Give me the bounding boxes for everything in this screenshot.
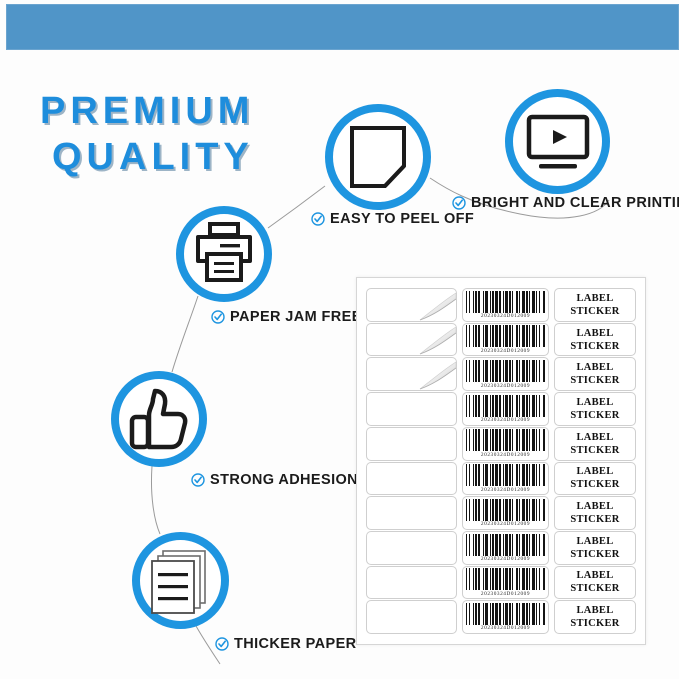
feature-label-paper-jam-free: PAPER JAM FREE [211,309,362,325]
feature-label-bright-and-clear-printing: BRIGHT AND CLEAR PRINTING [452,195,679,211]
check-badge-icon [211,310,225,324]
feature-label-text: STRONG ADHESION [210,472,358,488]
sticker-text: LABELSTICKER [570,535,619,561]
label-cell-blank[interactable] [366,531,457,565]
sticker-text: LABELSTICKER [570,500,619,526]
barcode-number: 20230324D012009 [481,521,530,527]
printer-icon [176,206,272,302]
sticker-text: LABELSTICKER [570,431,619,457]
label-cell-sticker[interactable]: LABELSTICKER [554,531,636,565]
label-cell-sticker[interactable]: LABELSTICKER [554,496,636,530]
sticker-text: LABELSTICKER [570,292,619,318]
label-cell-barcode[interactable]: 20230324D012009 [462,392,549,426]
barcode-number: 20230324D012009 [481,348,530,354]
sticker-text: LABELSTICKER [570,569,619,595]
label-cell-barcode[interactable]: 20230324D012009 [462,357,549,391]
check-badge-icon [191,473,205,487]
label-row: 20230324D012009LABELSTICKER [366,566,636,600]
barcode-number: 20230324D012009 [481,487,530,493]
feature-label-strong-adhesion: STRONG ADHESION [191,472,358,488]
page-title: PREMIUM QUALITY [40,88,340,180]
feature-label-text: PAPER JAM FREE [230,309,362,325]
label-cell-barcode[interactable]: 20230324D012009 [462,427,549,461]
peel-corner-icon [412,289,456,321]
feature-label-easy-to-peel-off: EASY TO PEEL OFF [311,211,474,227]
label-cell-barcode[interactable]: 20230324D012009 [462,531,549,565]
peel-corner-icon [412,323,456,355]
label-row: 20230324D012009LABELSTICKER [366,531,636,565]
label-row: 20230324D012009LABELSTICKER [366,323,636,357]
sticker-text: LABELSTICKER [570,465,619,491]
label-cell-barcode[interactable]: 20230324D012009 [462,288,549,322]
label-cell-blank[interactable] [366,288,457,322]
label-cell-blank[interactable] [366,427,457,461]
barcode-number: 20230324D012009 [481,556,530,562]
label-cell-blank[interactable] [366,496,457,530]
barcode-number: 20230324D012009 [481,452,530,458]
check-badge-icon [215,637,229,651]
label-row: 20230324D012009LABELSTICKER [366,357,636,391]
thumbs-up-icon [111,371,207,467]
label-cell-sticker[interactable]: LABELSTICKER [554,392,636,426]
feature-label-text: EASY TO PEEL OFF [330,211,474,227]
label-cell-blank[interactable] [366,566,457,600]
peel-label-icon [325,104,431,210]
label-cell-sticker[interactable]: LABELSTICKER [554,288,636,322]
feature-label-text: THICKER PAPER [234,636,357,652]
sticker-text: LABELSTICKER [570,327,619,353]
barcode-number: 20230324D012009 [481,625,530,631]
barcode-number: 20230324D012009 [481,383,530,389]
feature-label-text: BRIGHT AND CLEAR PRINTING [471,195,679,211]
label-cell-sticker[interactable]: LABELSTICKER [554,323,636,357]
label-cell-blank[interactable] [366,462,457,496]
label-cell-barcode[interactable]: 20230324D012009 [462,566,549,600]
label-sheet: 20230324D012009LABELSTICKER20230324D0120… [356,277,646,645]
label-row: 20230324D012009LABELSTICKER [366,496,636,530]
label-cell-barcode[interactable]: 20230324D012009 [462,600,549,634]
label-cell-blank[interactable] [366,600,457,634]
label-cell-barcode[interactable]: 20230324D012009 [462,323,549,357]
label-cell-blank[interactable] [366,357,457,391]
sticker-text: LABELSTICKER [570,604,619,630]
label-cell-barcode[interactable]: 20230324D012009 [462,462,549,496]
label-cell-sticker[interactable]: LABELSTICKER [554,427,636,461]
top-banner [6,4,679,50]
label-row: 20230324D012009LABELSTICKER [366,462,636,496]
sticker-text: LABELSTICKER [570,361,619,387]
barcode-number: 20230324D012009 [481,591,530,597]
label-cell-blank[interactable] [366,392,457,426]
monitor-play-icon [505,89,610,194]
label-cell-barcode[interactable]: 20230324D012009 [462,496,549,530]
label-cell-sticker[interactable]: LABELSTICKER [554,357,636,391]
infographic-canvas: PREMIUM QUALITY EASY TO PEEL OFF [0,0,679,679]
page-title-line-1: PREMIUM [40,90,254,132]
label-row: 20230324D012009LABELSTICKER [366,288,636,322]
paper-stack-icon [132,532,229,629]
check-badge-icon [311,212,325,226]
barcode-number: 20230324D012009 [481,417,530,423]
label-row: 20230324D012009LABELSTICKER [366,600,636,634]
label-cell-sticker[interactable]: LABELSTICKER [554,600,636,634]
page-title-line-2: QUALITY [52,134,340,180]
label-row: 20230324D012009LABELSTICKER [366,392,636,426]
barcode-number: 20230324D012009 [481,313,530,319]
feature-label-thicker-paper: THICKER PAPER [215,636,357,652]
label-cell-sticker[interactable]: LABELSTICKER [554,566,636,600]
peel-corner-icon [412,358,456,390]
label-cell-sticker[interactable]: LABELSTICKER [554,462,636,496]
label-cell-blank[interactable] [366,323,457,357]
check-badge-icon [452,196,466,210]
label-row: 20230324D012009LABELSTICKER [366,427,636,461]
sticker-text: LABELSTICKER [570,396,619,422]
